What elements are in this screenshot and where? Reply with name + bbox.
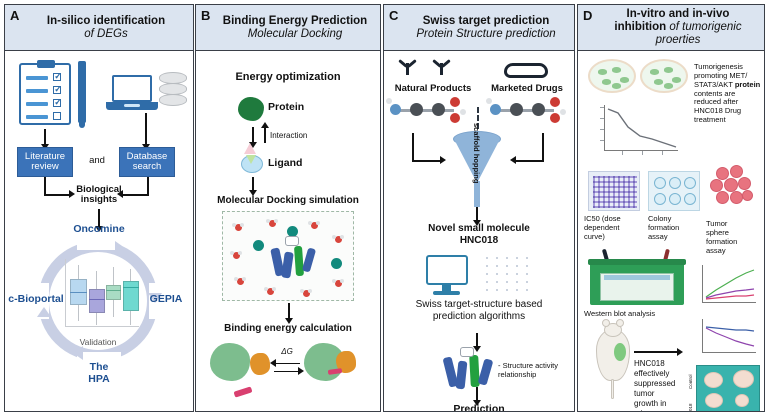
panel-c-subtitle: Protein Structure prediction bbox=[416, 28, 555, 41]
arrow-funnel-to-molecule bbox=[476, 207, 478, 221]
panel-b-subtitle: Molecular Docking bbox=[223, 28, 367, 41]
arrow-mouse-to-results bbox=[634, 351, 678, 353]
colony-formation-label: Colonyformationassay bbox=[648, 214, 700, 241]
energy-optimization-title: Energy optimization bbox=[196, 71, 380, 83]
tumorigenesis-note: Tumorigenesis promoting MET/ STAT3/AKT p… bbox=[694, 63, 764, 125]
protein-blob-icon bbox=[238, 97, 264, 121]
tumor-photo-label-018: 018 bbox=[688, 391, 693, 411]
docking-simulation-title: Molecular Docking simulation bbox=[196, 195, 380, 206]
docking-simulation-box bbox=[222, 211, 354, 301]
ligand-label: Ligand bbox=[268, 157, 328, 169]
panel-a-header: A In-silico identification of DEGs bbox=[5, 5, 193, 51]
laptop-icon bbox=[112, 75, 152, 102]
validation-boxplot bbox=[57, 259, 143, 337]
dot-matrix-icon bbox=[484, 255, 540, 293]
prediction-label: Prediction bbox=[384, 403, 574, 412]
panel-c-header: C Swiss target prediction Protein Struct… bbox=[384, 5, 574, 51]
cycle-label-gepia: GEPIA bbox=[138, 293, 194, 305]
arrow-protein-down bbox=[252, 127, 254, 143]
novel-molecule-label: Novel small moleculeHNC018 bbox=[384, 223, 574, 246]
interaction-label: Interaction bbox=[270, 131, 350, 140]
cycle-label-hpa: TheHPA bbox=[61, 362, 137, 386]
panel-d-title-3: proerties bbox=[614, 34, 741, 47]
panel-d-letter: D bbox=[583, 8, 592, 23]
panel-d-header: D In-vitro and in-vivo inhibition of tum… bbox=[578, 5, 764, 51]
protein-label: Protein bbox=[268, 101, 328, 113]
tumor-sphere-icon bbox=[706, 163, 762, 215]
ic50-label: IC50 (dosedependentcurve) bbox=[584, 214, 642, 241]
tumor-photo-label-control: Control bbox=[688, 367, 693, 389]
literature-review-box[interactable]: Literaturereview bbox=[17, 147, 73, 177]
panel-a: A In-silico identification of DEGs bbox=[4, 4, 194, 412]
figure-root: A In-silico identification of DEGs bbox=[0, 0, 769, 416]
panel-b-title: Binding Energy Prediction bbox=[223, 15, 367, 28]
panel-d-body: Tumorigenesis promoting MET/ STAT3/AKT p… bbox=[578, 51, 764, 411]
panel-d-title-1: In-vitro and in-vivo bbox=[614, 8, 741, 21]
scaffold-hopping-label: scaffold hopping bbox=[472, 123, 481, 183]
goggles-icon bbox=[504, 63, 548, 78]
tumor-photo-icon bbox=[696, 365, 760, 412]
body-weight-chart bbox=[690, 317, 760, 361]
arrow-database-to-search bbox=[145, 113, 147, 145]
clipboard-checklist-icon bbox=[19, 63, 71, 125]
petri-dish-icon-1 bbox=[588, 59, 636, 93]
arrow-ligand-to-docking bbox=[252, 177, 254, 191]
biological-insights-label: Biologicalinsights bbox=[57, 185, 141, 206]
plate-96-well-icon bbox=[588, 171, 640, 211]
panel-c-letter: C bbox=[389, 8, 398, 23]
marketed-drugs-label: Marketed Drugs bbox=[480, 83, 574, 94]
arrow-docking-to-energy bbox=[288, 303, 290, 319]
tumor-growth-chart bbox=[690, 263, 760, 311]
panel-c: C Swiss target prediction Protein Struct… bbox=[383, 4, 575, 412]
ic50-curve-chart bbox=[596, 103, 682, 159]
swiss-algorithm-label: Swiss target-structure basedprediction a… bbox=[384, 299, 574, 323]
panel-d: D In-vitro and in-vivo inhibition of tum… bbox=[577, 4, 765, 412]
tumor-sphere-label: Tumorsphereformationassay bbox=[706, 219, 760, 255]
arrow-structure-to-prediction bbox=[476, 387, 478, 401]
database-search-box[interactable]: Databasesearch bbox=[119, 147, 175, 177]
panel-a-letter: A bbox=[10, 8, 19, 23]
arrow-ligand-up bbox=[264, 127, 266, 143]
panel-a-subtitle: of DEGs bbox=[47, 28, 165, 41]
western-blot-label: Western blot analysis bbox=[584, 309, 684, 318]
pen-icon bbox=[78, 61, 86, 123]
natural-products-label: Natural Products bbox=[386, 83, 480, 94]
panel-c-title: Swiss target prediction bbox=[416, 15, 555, 28]
arrow-clipboard-to-literature bbox=[44, 129, 46, 145]
boxplot-caption: Validation bbox=[55, 337, 141, 347]
binding-energy-title: Binding energy calculation bbox=[196, 323, 380, 334]
arrow-algorithm-to-structure bbox=[476, 333, 478, 347]
mouse-result-note: HNC018effectivelysuppressedtumorgrowth i… bbox=[634, 359, 690, 412]
panel-b-header: B Binding Energy Prediction Molecular Do… bbox=[196, 5, 380, 51]
cycle-label-oncomine: Oncomine bbox=[54, 223, 144, 235]
panel-b-letter: B bbox=[201, 8, 210, 23]
connector-and-label: and bbox=[77, 155, 117, 166]
plate-6-well-icon bbox=[648, 171, 700, 211]
panel-a-body: Literaturereview and Databasesearch Biol… bbox=[5, 51, 193, 411]
panel-b-body: Energy optimization Protein Interaction … bbox=[196, 51, 380, 411]
panel-a-title: In-silico identification bbox=[47, 15, 165, 28]
panel-b: B Binding Energy Prediction Molecular Do… bbox=[195, 4, 381, 412]
panel-c-body: Natural Products Marketed Drugs bbox=[384, 51, 574, 411]
sar-label: - Structure activityrelationship bbox=[498, 361, 574, 379]
petri-dish-icon-2 bbox=[640, 59, 688, 93]
panel-d-title-2: inhibition of tumorigenic bbox=[614, 21, 741, 34]
delta-g-label: ΔG bbox=[270, 347, 304, 356]
monitor-icon bbox=[426, 255, 468, 285]
